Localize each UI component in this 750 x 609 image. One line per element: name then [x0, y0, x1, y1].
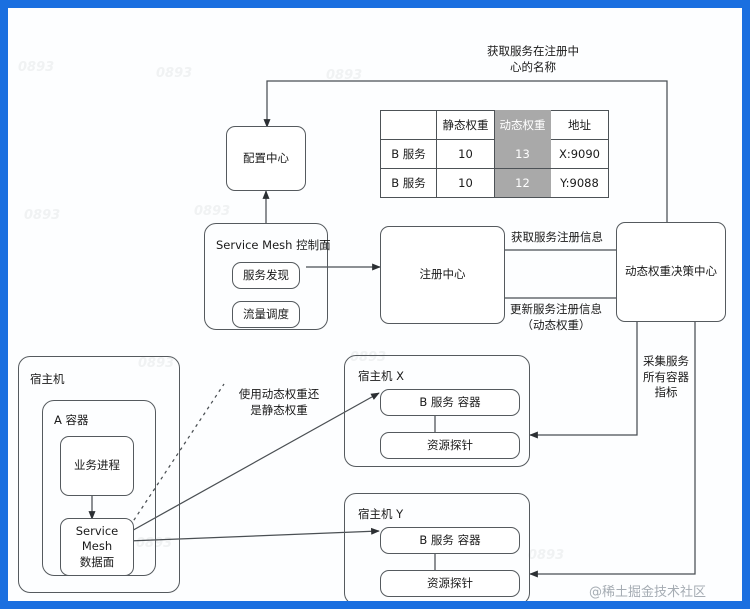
group-label-container-a: A 容器 [54, 412, 89, 428]
background-watermark: 0893 [18, 60, 54, 75]
node-config-center[interactable]: 配置中心 [226, 126, 306, 191]
table-cell-service: B 服务 [381, 169, 437, 198]
node-business-process[interactable]: 业务进程 [60, 436, 134, 496]
table-header-cell [381, 111, 437, 140]
group-label-host-local: 宿主机 [30, 371, 65, 387]
table-header-row: 静态权重 动态权重 地址 [381, 111, 609, 140]
table-cell-dynamic-weight: 12 [495, 169, 551, 198]
background-watermark: 0893 [528, 548, 564, 563]
table-row: B 服务 10 12 Y:9088 [381, 169, 609, 198]
table-header-cell-dynamic-weight: 动态权重 [495, 111, 551, 140]
background-watermark: 0893 [326, 68, 362, 83]
diagram-canvas: 0893 0893 0893 0893 0893 0893 0893 0893 … [8, 8, 742, 601]
edge-label-use-dynamic-or-static-weight: 使用动态权重还 是静态权重 [226, 387, 332, 418]
table-cell-dynamic-weight: 13 [495, 140, 551, 169]
edge-label-collect-all-container-metrics: 采集服务 所有容器 指标 [634, 354, 698, 401]
node-b-service-container-y[interactable]: B 服务 容器 [380, 527, 520, 554]
node-traffic-schedule[interactable]: 流量调度 [232, 301, 300, 328]
watermark-label: @稀土掘金技术社区 [589, 581, 706, 600]
group-label-host-y: 宿主机 Y [358, 506, 403, 522]
group-label-service-mesh-control-plane: Service Mesh 控制面 [216, 237, 331, 253]
node-resource-probe-x[interactable]: 资源探针 [380, 432, 520, 459]
background-watermark: 0893 [24, 208, 60, 223]
group-label-host-x: 宿主机 X [358, 368, 404, 384]
background-watermark: 0893 [194, 204, 230, 219]
table-header-cell: 静态权重 [437, 111, 495, 140]
table-cell-address: X:9090 [551, 140, 609, 169]
node-registry-center[interactable]: 注册中心 [380, 226, 505, 324]
node-b-service-container-x[interactable]: B 服务 容器 [380, 389, 520, 416]
edge-label-get-service-name: 获取服务在注册中 心的名称 [448, 44, 618, 75]
node-mesh-data-plane[interactable]: Service Mesh 数据面 [60, 518, 134, 576]
weight-table: 静态权重 动态权重 地址 B 服务 10 13 X:9090 B 服务 10 1… [380, 110, 609, 198]
node-service-discovery[interactable]: 服务发现 [232, 262, 300, 289]
table-cell-address: Y:9088 [551, 169, 609, 198]
edge-label-get-service-registry-info: 获取服务注册信息 [500, 230, 614, 246]
table-cell-static-weight: 10 [437, 169, 495, 198]
screenshot-frame: 0893 0893 0893 0893 0893 0893 0893 0893 … [0, 0, 750, 609]
table-row: B 服务 10 13 X:9090 [381, 140, 609, 169]
table-cell-static-weight: 10 [437, 140, 495, 169]
node-dynamic-weight-decision-center[interactable]: 动态权重决策中心 [616, 222, 726, 322]
node-resource-probe-y[interactable]: 资源探针 [380, 570, 520, 597]
table-header-cell: 地址 [551, 111, 609, 140]
background-watermark: 0893 [156, 66, 192, 81]
table-cell-service: B 服务 [381, 140, 437, 169]
edge-label-update-service-registry-info: 更新服务注册信息 （动态权重） [497, 302, 615, 333]
